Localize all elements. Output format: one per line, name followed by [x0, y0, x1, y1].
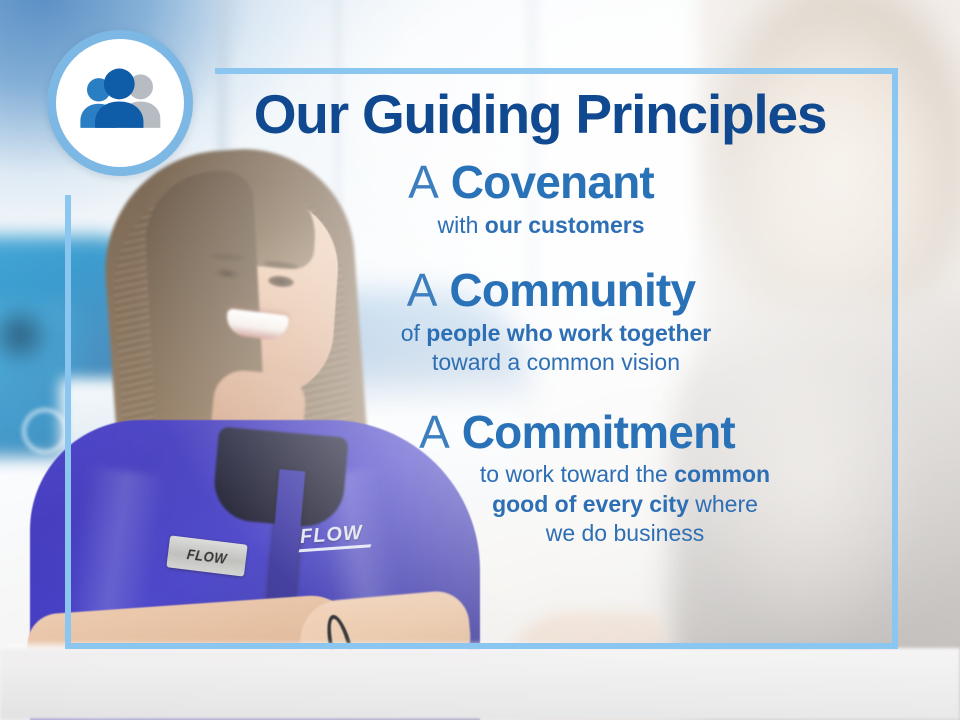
desk-surface — [0, 648, 960, 720]
principle-subtext-line: toward a common vision — [232, 348, 880, 377]
subtext-plain: of — [401, 320, 427, 346]
principle-subtext-line: good of every city where — [370, 490, 880, 519]
subtext-plain: with — [437, 212, 484, 238]
principle-subtext-line: to work toward the common — [370, 460, 880, 489]
subtext-plain: toward a common vision — [432, 349, 680, 375]
subtext-emphasis: our customers — [485, 212, 645, 238]
subtext-plain: we do business — [546, 520, 705, 546]
principle-article: A — [419, 406, 450, 458]
principle-article: A — [408, 156, 439, 208]
desk-edge — [0, 644, 560, 654]
principle-covenant: A Covenant with our customers — [200, 158, 880, 240]
principle-title: A Covenant — [200, 158, 862, 208]
principle-word: Community — [449, 264, 695, 316]
principle-article: A — [407, 264, 438, 316]
subtext-plain: to work toward the — [480, 461, 674, 487]
people-group-icon — [76, 67, 164, 139]
principle-community: A Community of people who work togethert… — [200, 266, 880, 378]
principle-subtext: with our customers — [200, 211, 862, 240]
subtext-plain: where — [689, 491, 758, 517]
people-group-badge — [47, 30, 193, 176]
page-title: Our Guiding Principles — [200, 86, 880, 142]
principle-subtext-line: of people who work together — [232, 319, 880, 348]
principle-word: Covenant — [451, 156, 654, 208]
text-block: Our Guiding Principles A Covenant with o… — [200, 86, 880, 553]
subtext-emphasis: common — [674, 461, 770, 487]
principle-subtext-line: with our customers — [220, 211, 862, 240]
principle-title: A Community — [222, 266, 880, 316]
principle-word: Commitment — [462, 406, 735, 458]
guiding-principles-graphic: FLOW FLOW — [0, 0, 960, 720]
subtext-emphasis: people who work together — [426, 320, 711, 346]
principle-commitment: A Commitment to work toward the commongo… — [200, 408, 880, 549]
principle-subtext-line: we do business — [370, 519, 880, 548]
subtext-emphasis: good of every city — [492, 491, 689, 517]
principle-title: A Commitment — [274, 408, 880, 458]
principle-subtext: to work toward the commongood of every c… — [274, 460, 880, 548]
principle-subtext: of people who work togethertoward a comm… — [222, 319, 880, 378]
